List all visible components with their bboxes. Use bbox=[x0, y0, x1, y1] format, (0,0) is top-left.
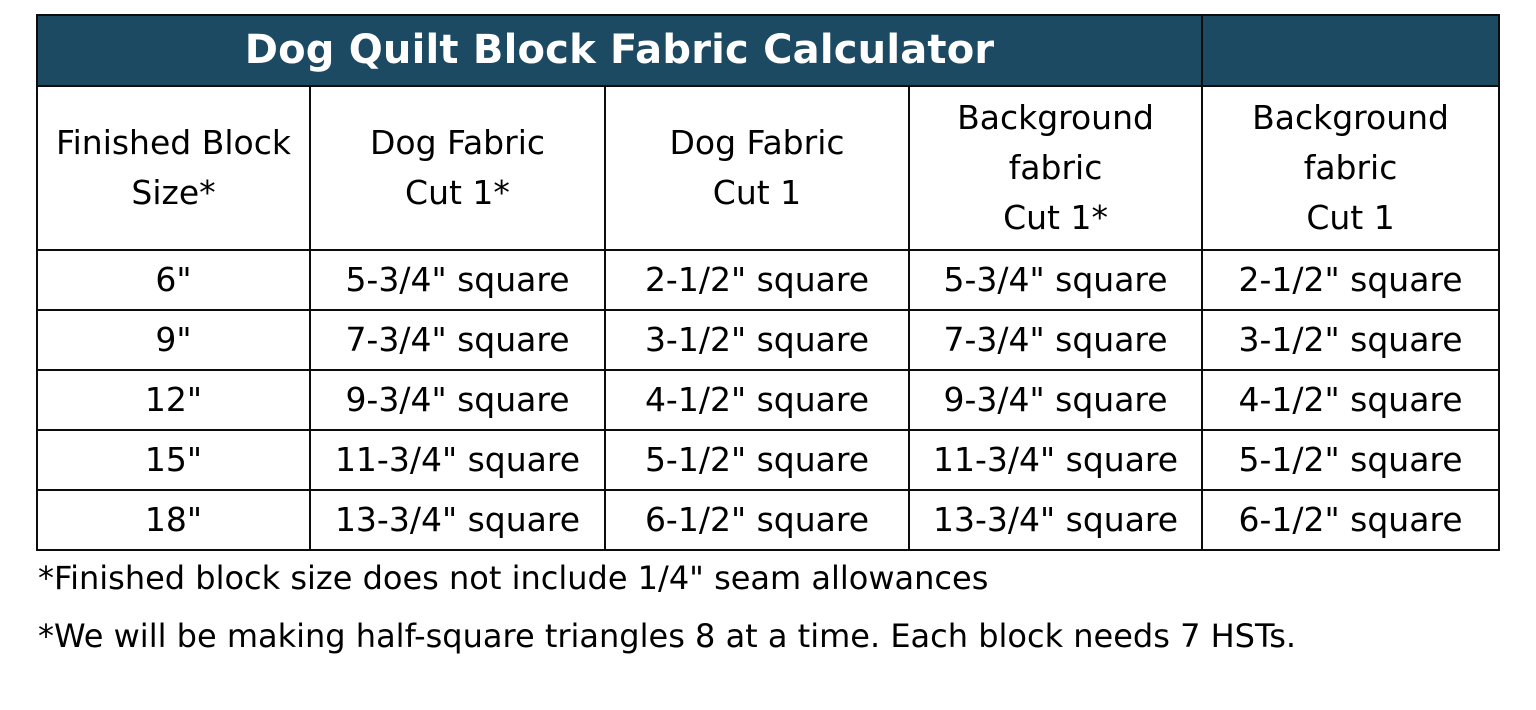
cell-background-fabric-cut-1: 5-1/2" square bbox=[1202, 430, 1499, 490]
title-banner-spacer bbox=[1202, 15, 1499, 86]
cell-dog-fabric-cut-1: 4-1/2" square bbox=[605, 370, 909, 430]
cell-finished-block-size: 12" bbox=[37, 370, 310, 430]
header-line-2: Cut 1 bbox=[612, 168, 902, 218]
header-line-1: Finished Block bbox=[44, 118, 303, 168]
column-header-background-fabric-cut-1: Background fabric Cut 1 bbox=[1202, 86, 1499, 250]
cell-background-fabric-cut-1: 4-1/2" square bbox=[1202, 370, 1499, 430]
header-line-2: Cut 1* bbox=[317, 168, 598, 218]
table-header-row: Finished Block Size* Dog Fabric Cut 1* D… bbox=[37, 86, 1499, 250]
header-line-2: fabric bbox=[916, 143, 1195, 193]
table-row: 18" 13-3/4" square 6-1/2" square 13-3/4"… bbox=[37, 490, 1499, 550]
fabric-calculator-table: Dog Quilt Block Fabric Calculator Finish… bbox=[36, 14, 1500, 551]
cell-dog-fabric-cut-1: 3-1/2" square bbox=[605, 310, 909, 370]
header-line-3: Cut 1* bbox=[916, 193, 1195, 243]
cell-dog-fabric-cut-1-star: 11-3/4" square bbox=[310, 430, 605, 490]
footnote-seam-allowance: *Finished block size does not include 1/… bbox=[38, 562, 1498, 594]
cell-background-fabric-cut-1: 3-1/2" square bbox=[1202, 310, 1499, 370]
header-line-3: Cut 1 bbox=[1209, 193, 1492, 243]
cell-dog-fabric-cut-1-star: 13-3/4" square bbox=[310, 490, 605, 550]
column-header-finished-block-size: Finished Block Size* bbox=[37, 86, 310, 250]
table-row: 15" 11-3/4" square 5-1/2" square 11-3/4"… bbox=[37, 430, 1499, 490]
cell-background-fabric-cut-1-star: 11-3/4" square bbox=[909, 430, 1202, 490]
table-row: 6" 5-3/4" square 2-1/2" square 5-3/4" sq… bbox=[37, 250, 1499, 310]
table-row: 9" 7-3/4" square 3-1/2" square 7-3/4" sq… bbox=[37, 310, 1499, 370]
page-root: Dog Quilt Block Fabric Calculator Finish… bbox=[0, 0, 1536, 710]
column-header-dog-fabric-cut-1: Dog Fabric Cut 1 bbox=[605, 86, 909, 250]
header-line-2: Size* bbox=[44, 168, 303, 218]
page-title: Dog Quilt Block Fabric Calculator bbox=[37, 15, 1202, 86]
header-line-1: Background bbox=[1209, 93, 1492, 143]
table-row: 12" 9-3/4" square 4-1/2" square 9-3/4" s… bbox=[37, 370, 1499, 430]
cell-background-fabric-cut-1: 6-1/2" square bbox=[1202, 490, 1499, 550]
cell-finished-block-size: 9" bbox=[37, 310, 310, 370]
cell-background-fabric-cut-1-star: 5-3/4" square bbox=[909, 250, 1202, 310]
column-header-background-fabric-cut-1-star: Background fabric Cut 1* bbox=[909, 86, 1202, 250]
table-title-row: Dog Quilt Block Fabric Calculator bbox=[37, 15, 1499, 86]
cell-dog-fabric-cut-1: 5-1/2" square bbox=[605, 430, 909, 490]
cell-background-fabric-cut-1-star: 7-3/4" square bbox=[909, 310, 1202, 370]
footnotes: *Finished block size does not include 1/… bbox=[38, 562, 1498, 678]
cell-finished-block-size: 6" bbox=[37, 250, 310, 310]
cell-background-fabric-cut-1-star: 9-3/4" square bbox=[909, 370, 1202, 430]
cell-finished-block-size: 15" bbox=[37, 430, 310, 490]
header-line-1: Background bbox=[916, 93, 1195, 143]
cell-dog-fabric-cut-1-star: 7-3/4" square bbox=[310, 310, 605, 370]
cell-dog-fabric-cut-1-star: 9-3/4" square bbox=[310, 370, 605, 430]
cell-dog-fabric-cut-1-star: 5-3/4" square bbox=[310, 250, 605, 310]
cell-dog-fabric-cut-1: 2-1/2" square bbox=[605, 250, 909, 310]
column-header-dog-fabric-cut-1-star: Dog Fabric Cut 1* bbox=[310, 86, 605, 250]
cell-finished-block-size: 18" bbox=[37, 490, 310, 550]
cell-background-fabric-cut-1: 2-1/2" square bbox=[1202, 250, 1499, 310]
header-line-2: fabric bbox=[1209, 143, 1492, 193]
header-line-1: Dog Fabric bbox=[317, 118, 598, 168]
header-line-1: Dog Fabric bbox=[612, 118, 902, 168]
cell-dog-fabric-cut-1: 6-1/2" square bbox=[605, 490, 909, 550]
cell-background-fabric-cut-1-star: 13-3/4" square bbox=[909, 490, 1202, 550]
footnote-half-square-triangles: *We will be making half-square triangles… bbox=[38, 620, 1498, 652]
